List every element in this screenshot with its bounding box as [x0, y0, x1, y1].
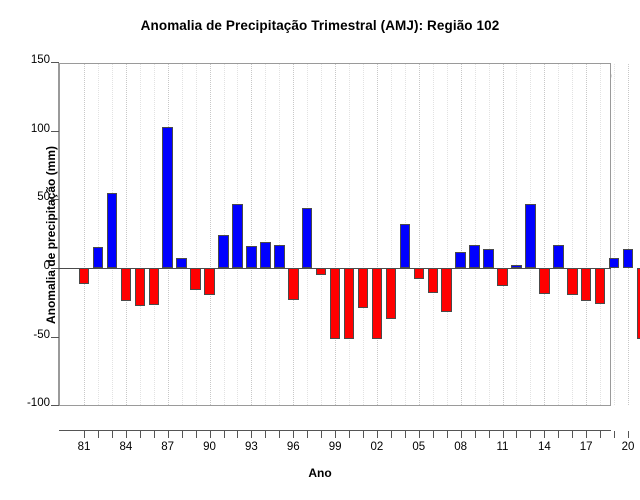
y-axis-tick-label: -100: [0, 397, 50, 409]
grid-line-vertical: [251, 64, 253, 405]
bar-2008: [455, 252, 466, 268]
grid-line-vertical-minor: [558, 64, 560, 405]
x-axis-tick-label: 02: [357, 441, 397, 453]
grid-line-vertical: [377, 64, 379, 405]
x-axis-tick: [210, 431, 211, 438]
x-axis-tick: [279, 431, 280, 438]
bar-1996: [288, 268, 299, 300]
bar-1985: [135, 268, 146, 306]
grid-line-vertical-minor: [265, 64, 267, 405]
x-axis-tick: [516, 431, 517, 438]
bar-2006: [428, 268, 439, 293]
grid-line-vertical: [419, 64, 421, 405]
x-axis-tick-label: 81: [64, 441, 104, 453]
bar-1997: [302, 208, 313, 268]
grid-line-vertical-minor: [475, 64, 477, 405]
x-axis-tick-label: 84: [106, 441, 146, 453]
grid-line-vertical-minor: [349, 64, 351, 405]
grid-line-vertical: [126, 64, 128, 405]
x-axis-tick: [558, 431, 559, 438]
x-axis-tick: [544, 431, 545, 438]
grid-line-vertical-minor: [433, 64, 435, 405]
bar-2005: [414, 268, 425, 279]
bar-2007: [441, 268, 452, 312]
x-axis-tick: [405, 431, 406, 438]
y-axis-tick: [51, 131, 59, 132]
x-axis-tick: [628, 431, 629, 438]
y-axis-tick-label: 100: [0, 123, 50, 135]
x-axis-tick-label: 17: [566, 441, 606, 453]
x-axis-tick: [433, 431, 434, 438]
bar-1992: [232, 204, 243, 268]
y-axis-line: [58, 63, 59, 406]
y-axis-tick: [51, 405, 59, 406]
x-axis-tick-label: 08: [441, 441, 481, 453]
y-axis-tick-label: 50: [0, 191, 50, 203]
grid-line-vertical: [84, 64, 86, 405]
bar-2003: [386, 268, 397, 319]
x-axis-tick: [321, 431, 322, 438]
grid-line-vertical-minor: [279, 64, 281, 405]
bar-2018: [595, 268, 606, 304]
bar-1998: [316, 268, 327, 275]
bar-1994: [260, 242, 271, 268]
x-axis-tick-label: 05: [399, 441, 439, 453]
x-axis-tick: [391, 431, 392, 438]
x-axis-tick: [154, 431, 155, 438]
page-title: Anomalia de Precipitação Trimestral (AMJ…: [0, 18, 640, 33]
x-axis-tick-label: 11: [483, 441, 523, 453]
x-axis-tick: [140, 431, 141, 438]
bar-2009: [469, 245, 480, 268]
bar-1986: [149, 268, 160, 305]
grid-line-vertical-minor: [600, 64, 602, 405]
x-axis-tick-label: 87: [148, 441, 188, 453]
grid-line-vertical-minor: [363, 64, 365, 405]
bar-2015: [553, 245, 564, 268]
chart-root: Anomalia de Precipitação Trimestral (AMJ…: [0, 0, 640, 500]
bar-2002: [372, 268, 383, 339]
grid-line-vertical-minor: [489, 64, 491, 405]
x-axis-tick: [586, 431, 587, 438]
bar-1982: [93, 247, 104, 268]
bar-1999: [330, 268, 341, 339]
grid-line-vertical: [461, 64, 463, 405]
x-axis-tick: [503, 431, 504, 438]
grid-line-vertical-minor: [182, 64, 184, 405]
grid-line-vertical-minor: [196, 64, 198, 405]
bar-2016: [567, 268, 578, 295]
x-axis-title: Ano: [0, 466, 640, 480]
x-axis-tick: [265, 431, 266, 438]
bar-1995: [274, 245, 285, 268]
bar-2010: [483, 249, 494, 268]
x-axis-tick: [237, 431, 238, 438]
bar-2012: [511, 265, 522, 268]
x-axis-tick: [572, 431, 573, 438]
grid-line-vertical-minor: [572, 64, 574, 405]
grid-line-vertical: [628, 64, 630, 405]
grid-line-vertical-minor: [391, 64, 393, 405]
bar-1991: [218, 235, 229, 268]
x-axis-tick: [307, 431, 308, 438]
grid-line-vertical: [544, 64, 546, 405]
y-axis-tick-label: -50: [0, 329, 50, 341]
y-axis-tick: [51, 199, 59, 200]
x-axis-tick: [112, 431, 113, 438]
bar-1987: [162, 127, 173, 268]
x-axis-tick: [349, 431, 350, 438]
x-axis-tick: [530, 431, 531, 438]
bar-2004: [400, 224, 411, 268]
grid-line-vertical-minor: [516, 64, 518, 405]
x-axis-tick: [461, 431, 462, 438]
bar-1983: [107, 193, 118, 268]
y-axis-tick-label: 150: [0, 54, 50, 66]
grid-line-vertical: [293, 64, 295, 405]
x-axis-tick: [377, 431, 378, 438]
x-axis-tick: [98, 431, 99, 438]
x-axis-tick: [126, 431, 127, 438]
bar-1990: [204, 268, 215, 295]
y-axis-tick-label: 0: [0, 260, 50, 272]
bar-1981: [79, 268, 90, 284]
x-axis-tick-label: 20: [608, 441, 640, 453]
grid-line-vertical: [210, 64, 212, 405]
y-axis-tick: [51, 268, 59, 269]
x-axis-tick: [363, 431, 364, 438]
x-axis-tick-label: 99: [315, 441, 355, 453]
bar-1993: [246, 246, 257, 268]
x-axis-tick: [182, 431, 183, 438]
x-axis-tick: [168, 431, 169, 438]
x-axis-tick-label: 90: [190, 441, 230, 453]
bar-2000: [344, 268, 355, 339]
grid-line-vertical-minor: [614, 64, 616, 405]
x-axis-tick: [419, 431, 420, 438]
bar-1984: [121, 268, 132, 301]
bar-2020: [623, 249, 634, 268]
grid-line-vertical-minor: [447, 64, 449, 405]
bar-2011: [497, 268, 508, 286]
y-axis-tick: [51, 337, 59, 338]
x-axis-tick: [600, 431, 601, 438]
x-axis-tick: [196, 431, 197, 438]
grid-line-vertical: [586, 64, 588, 405]
bar-2013: [525, 204, 536, 268]
grid-line-vertical-minor: [154, 64, 156, 405]
x-axis-tick: [489, 431, 490, 438]
x-axis-tick-label: 93: [231, 441, 271, 453]
x-axis-tick: [614, 431, 615, 438]
x-axis-tick: [475, 431, 476, 438]
bar-2019: [609, 258, 620, 268]
grid-line-vertical-minor: [98, 64, 100, 405]
x-axis-tick: [335, 431, 336, 438]
bar-2001: [358, 268, 369, 308]
x-axis-tick-label: 14: [524, 441, 564, 453]
grid-line-vertical: [335, 64, 337, 405]
grid-line-vertical-minor: [321, 64, 323, 405]
grid-line-vertical: [503, 64, 505, 405]
y-axis-tick: [51, 62, 59, 63]
x-axis-tick-label: 96: [273, 441, 313, 453]
bar-1988: [176, 258, 187, 268]
x-axis-tick: [447, 431, 448, 438]
bar-2017: [581, 268, 592, 301]
bar-1989: [190, 268, 201, 290]
x-axis-tick: [224, 431, 225, 438]
x-axis-tick: [293, 431, 294, 438]
x-axis-tick: [84, 431, 85, 438]
x-axis-tick: [251, 431, 252, 438]
grid-line-vertical-minor: [140, 64, 142, 405]
bar-2014: [539, 268, 550, 294]
